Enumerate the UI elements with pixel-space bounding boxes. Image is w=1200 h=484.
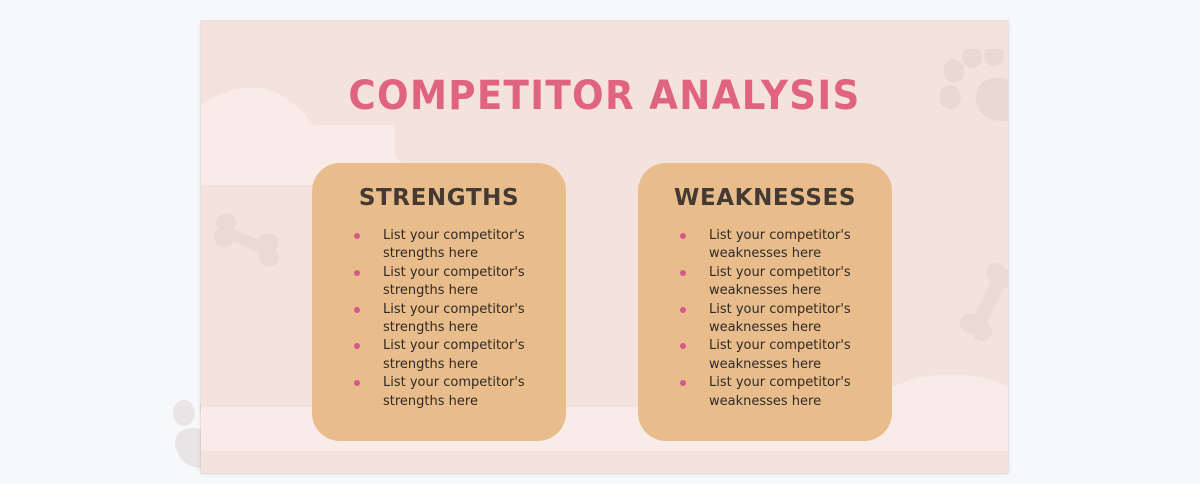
list-item: List your competitor's strengths here xyxy=(348,301,546,338)
card-strengths[interactable]: STRENGTHS List your competitor's strengt… xyxy=(312,163,566,441)
list-item: List your competitor's weaknesses here xyxy=(674,301,872,338)
bone-left-icon xyxy=(213,211,281,269)
list-item: List your competitor's weaknesses here xyxy=(674,227,872,264)
list-item: List your competitor's strengths here xyxy=(348,374,546,411)
cards-container: STRENGTHS List your competitor's strengt… xyxy=(312,163,898,441)
card-weaknesses-title: WEAKNESSES xyxy=(652,185,878,211)
list-item: List your competitor's strengths here xyxy=(348,264,546,301)
page-title: COMPETITOR ANALYSIS xyxy=(229,73,980,119)
slide[interactable]: COMPETITOR ANALYSIS STRENGTHS List your … xyxy=(201,21,1008,473)
list-item: List your competitor's weaknesses here xyxy=(674,264,872,301)
card-weaknesses[interactable]: WEAKNESSES List your competitor's weakne… xyxy=(638,163,892,441)
slide-canvas: COMPETITOR ANALYSIS STRENGTHS List your … xyxy=(0,0,1200,484)
card-weaknesses-list: List your competitor's weaknesses here L… xyxy=(652,227,878,411)
bone-right-icon xyxy=(956,263,1008,343)
list-item: List your competitor's strengths here xyxy=(348,337,546,374)
card-strengths-title: STRENGTHS xyxy=(326,185,552,211)
card-strengths-list: List your competitor's strengths here Li… xyxy=(326,227,552,411)
list-item: List your competitor's strengths here xyxy=(348,227,546,264)
list-item: List your competitor's weaknesses here xyxy=(674,374,872,411)
list-item: List your competitor's weaknesses here xyxy=(674,337,872,374)
